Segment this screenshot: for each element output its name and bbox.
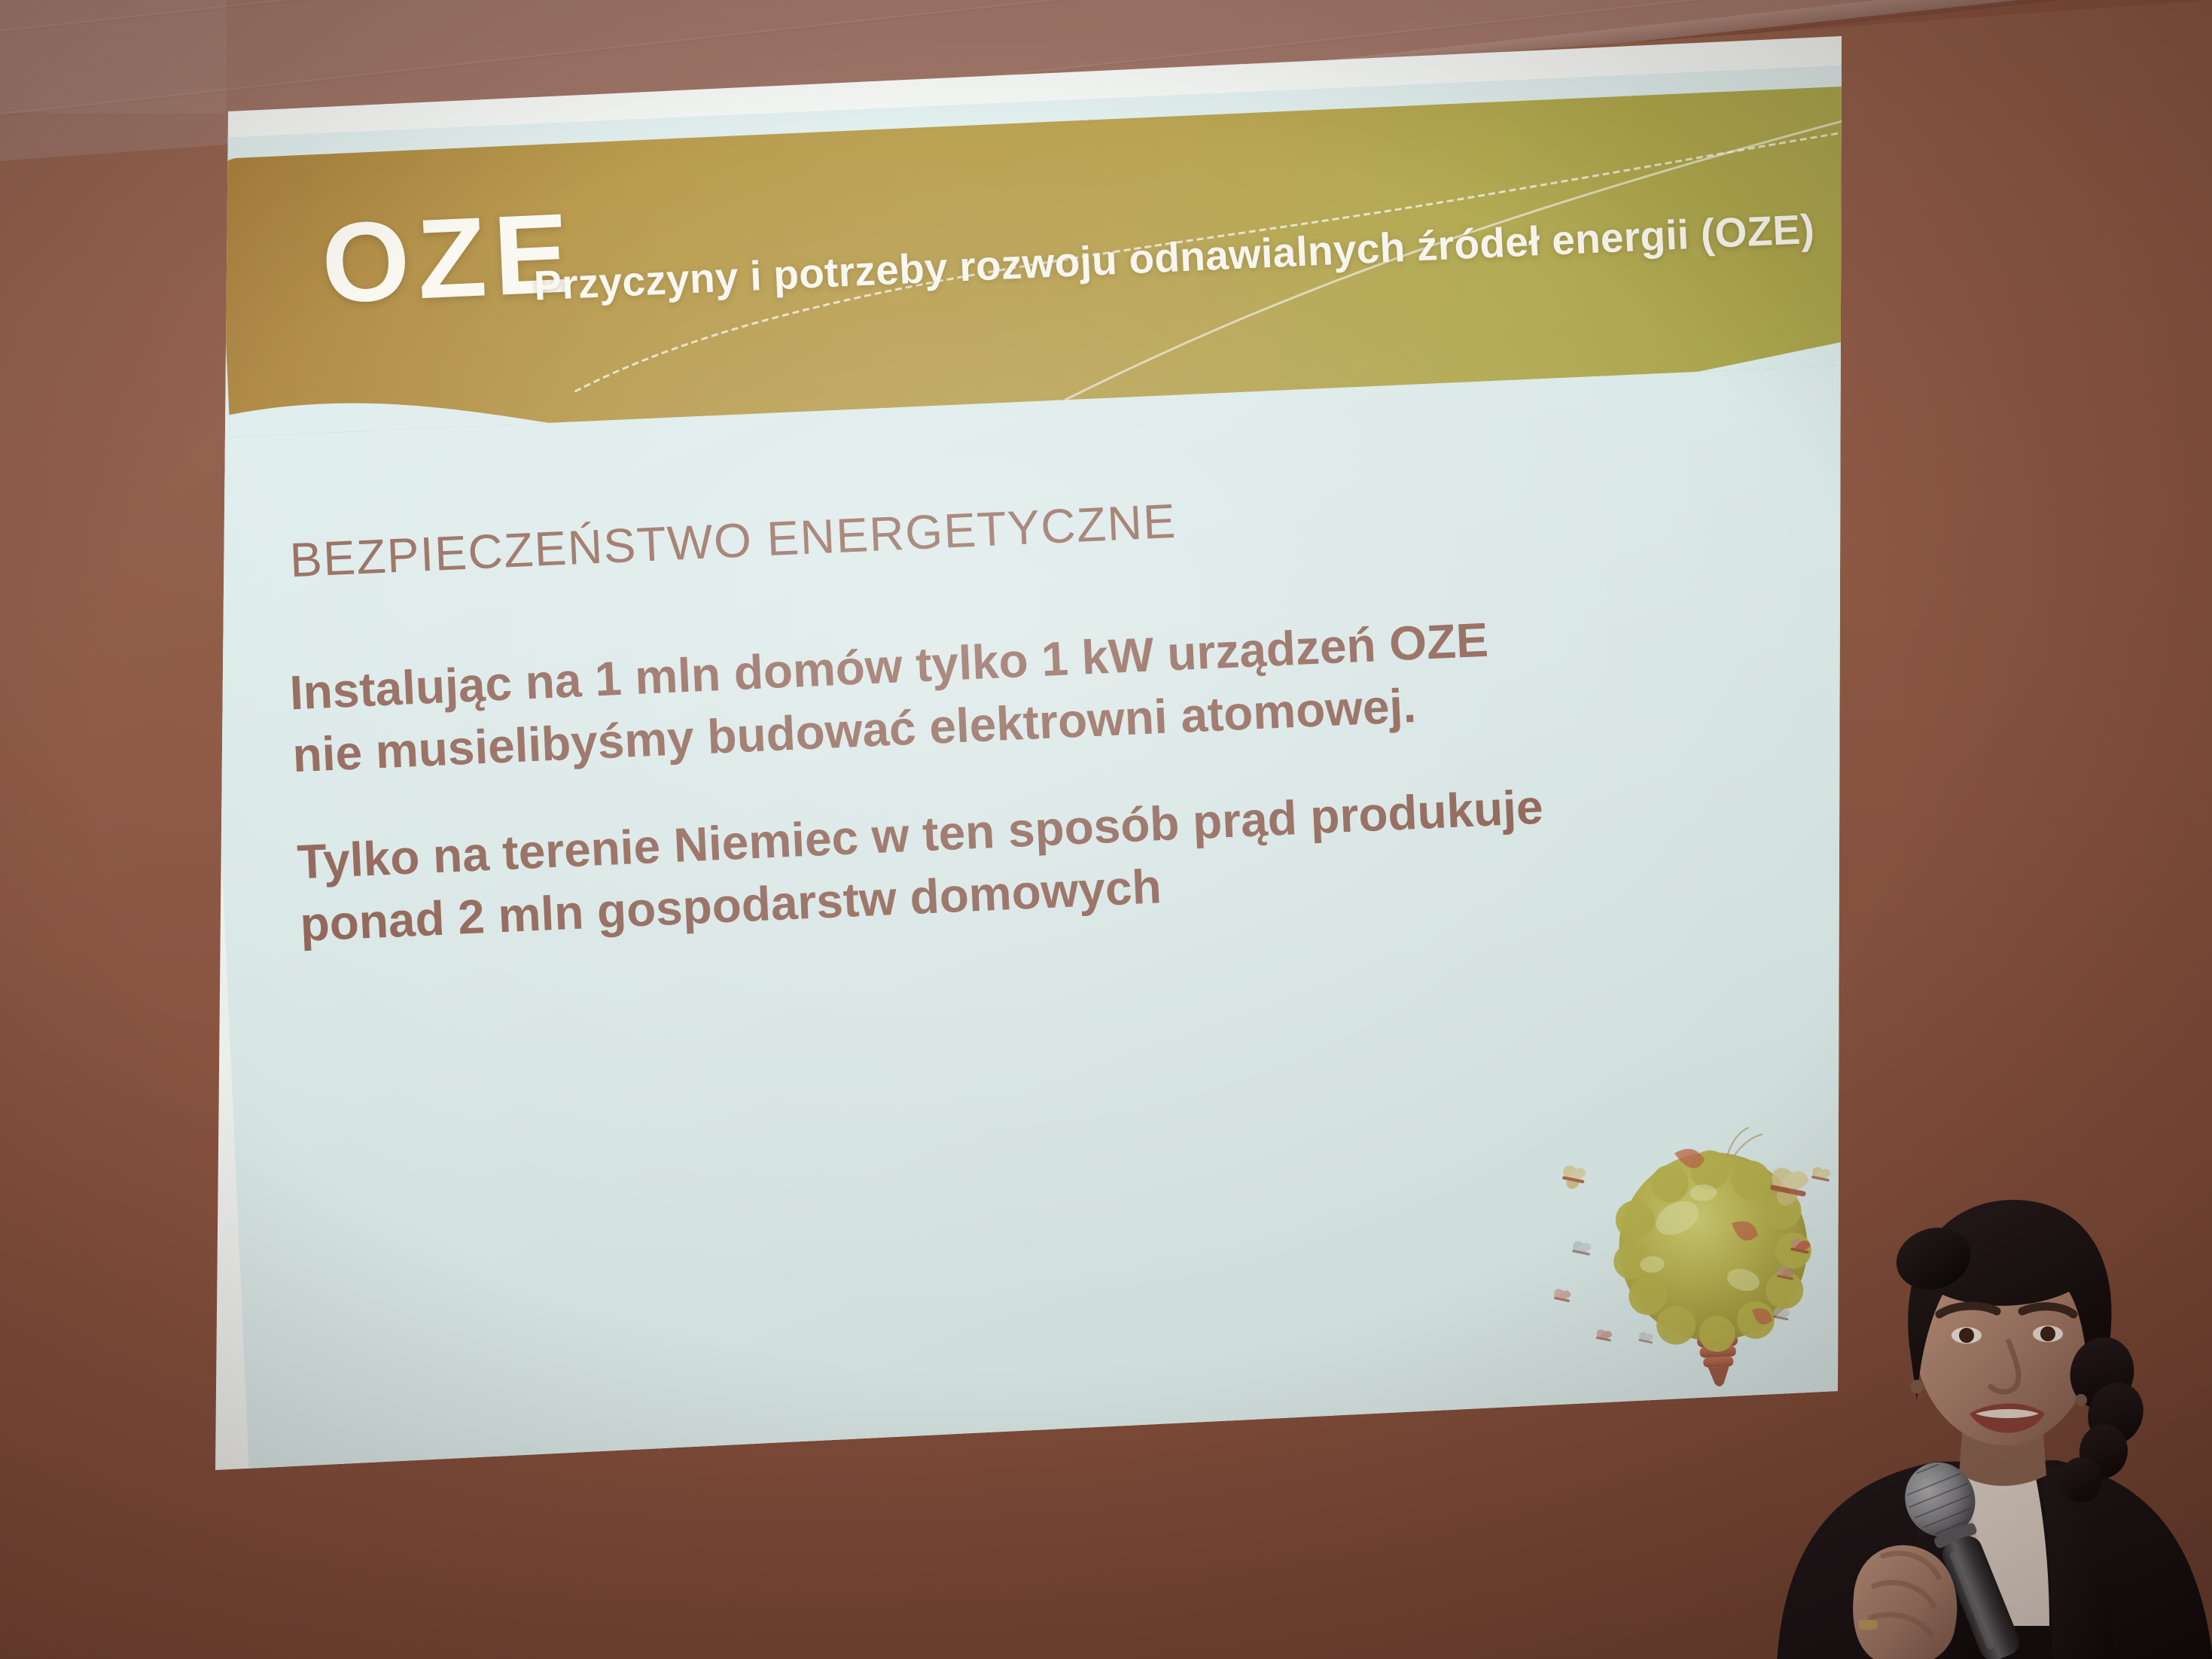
slide-body: BEZPIECZEŃSTWO ENERGETYCZNE Instalując n… — [203, 364, 1943, 1508]
speaker-person — [1762, 1174, 2212, 1659]
presentation-slide: OZE Przyczyny i potrzeby rozwoju odnawia… — [190, 64, 1943, 1508]
slide-paragraph: Instalując na 1 mln domów tylko 1 kW urz… — [288, 605, 1573, 787]
slide-body-heading: BEZPIECZEŃSTWO ENERGETYCZNE — [288, 493, 1178, 588]
projected-slide-wrapper: OZE Przyczyny i potrzeby rozwoju odnawia… — [215, 0, 1904, 1480]
slide-paragraph: Tylko na terenie Niemiec w ten sposób pr… — [296, 775, 1580, 957]
presentation-photo-scene: OZE Przyczyny i potrzeby rozwoju odnawia… — [0, 0, 2212, 1659]
projection-screen: OZE Przyczyny i potrzeby rozwoju odnawia… — [215, 36, 1842, 1481]
